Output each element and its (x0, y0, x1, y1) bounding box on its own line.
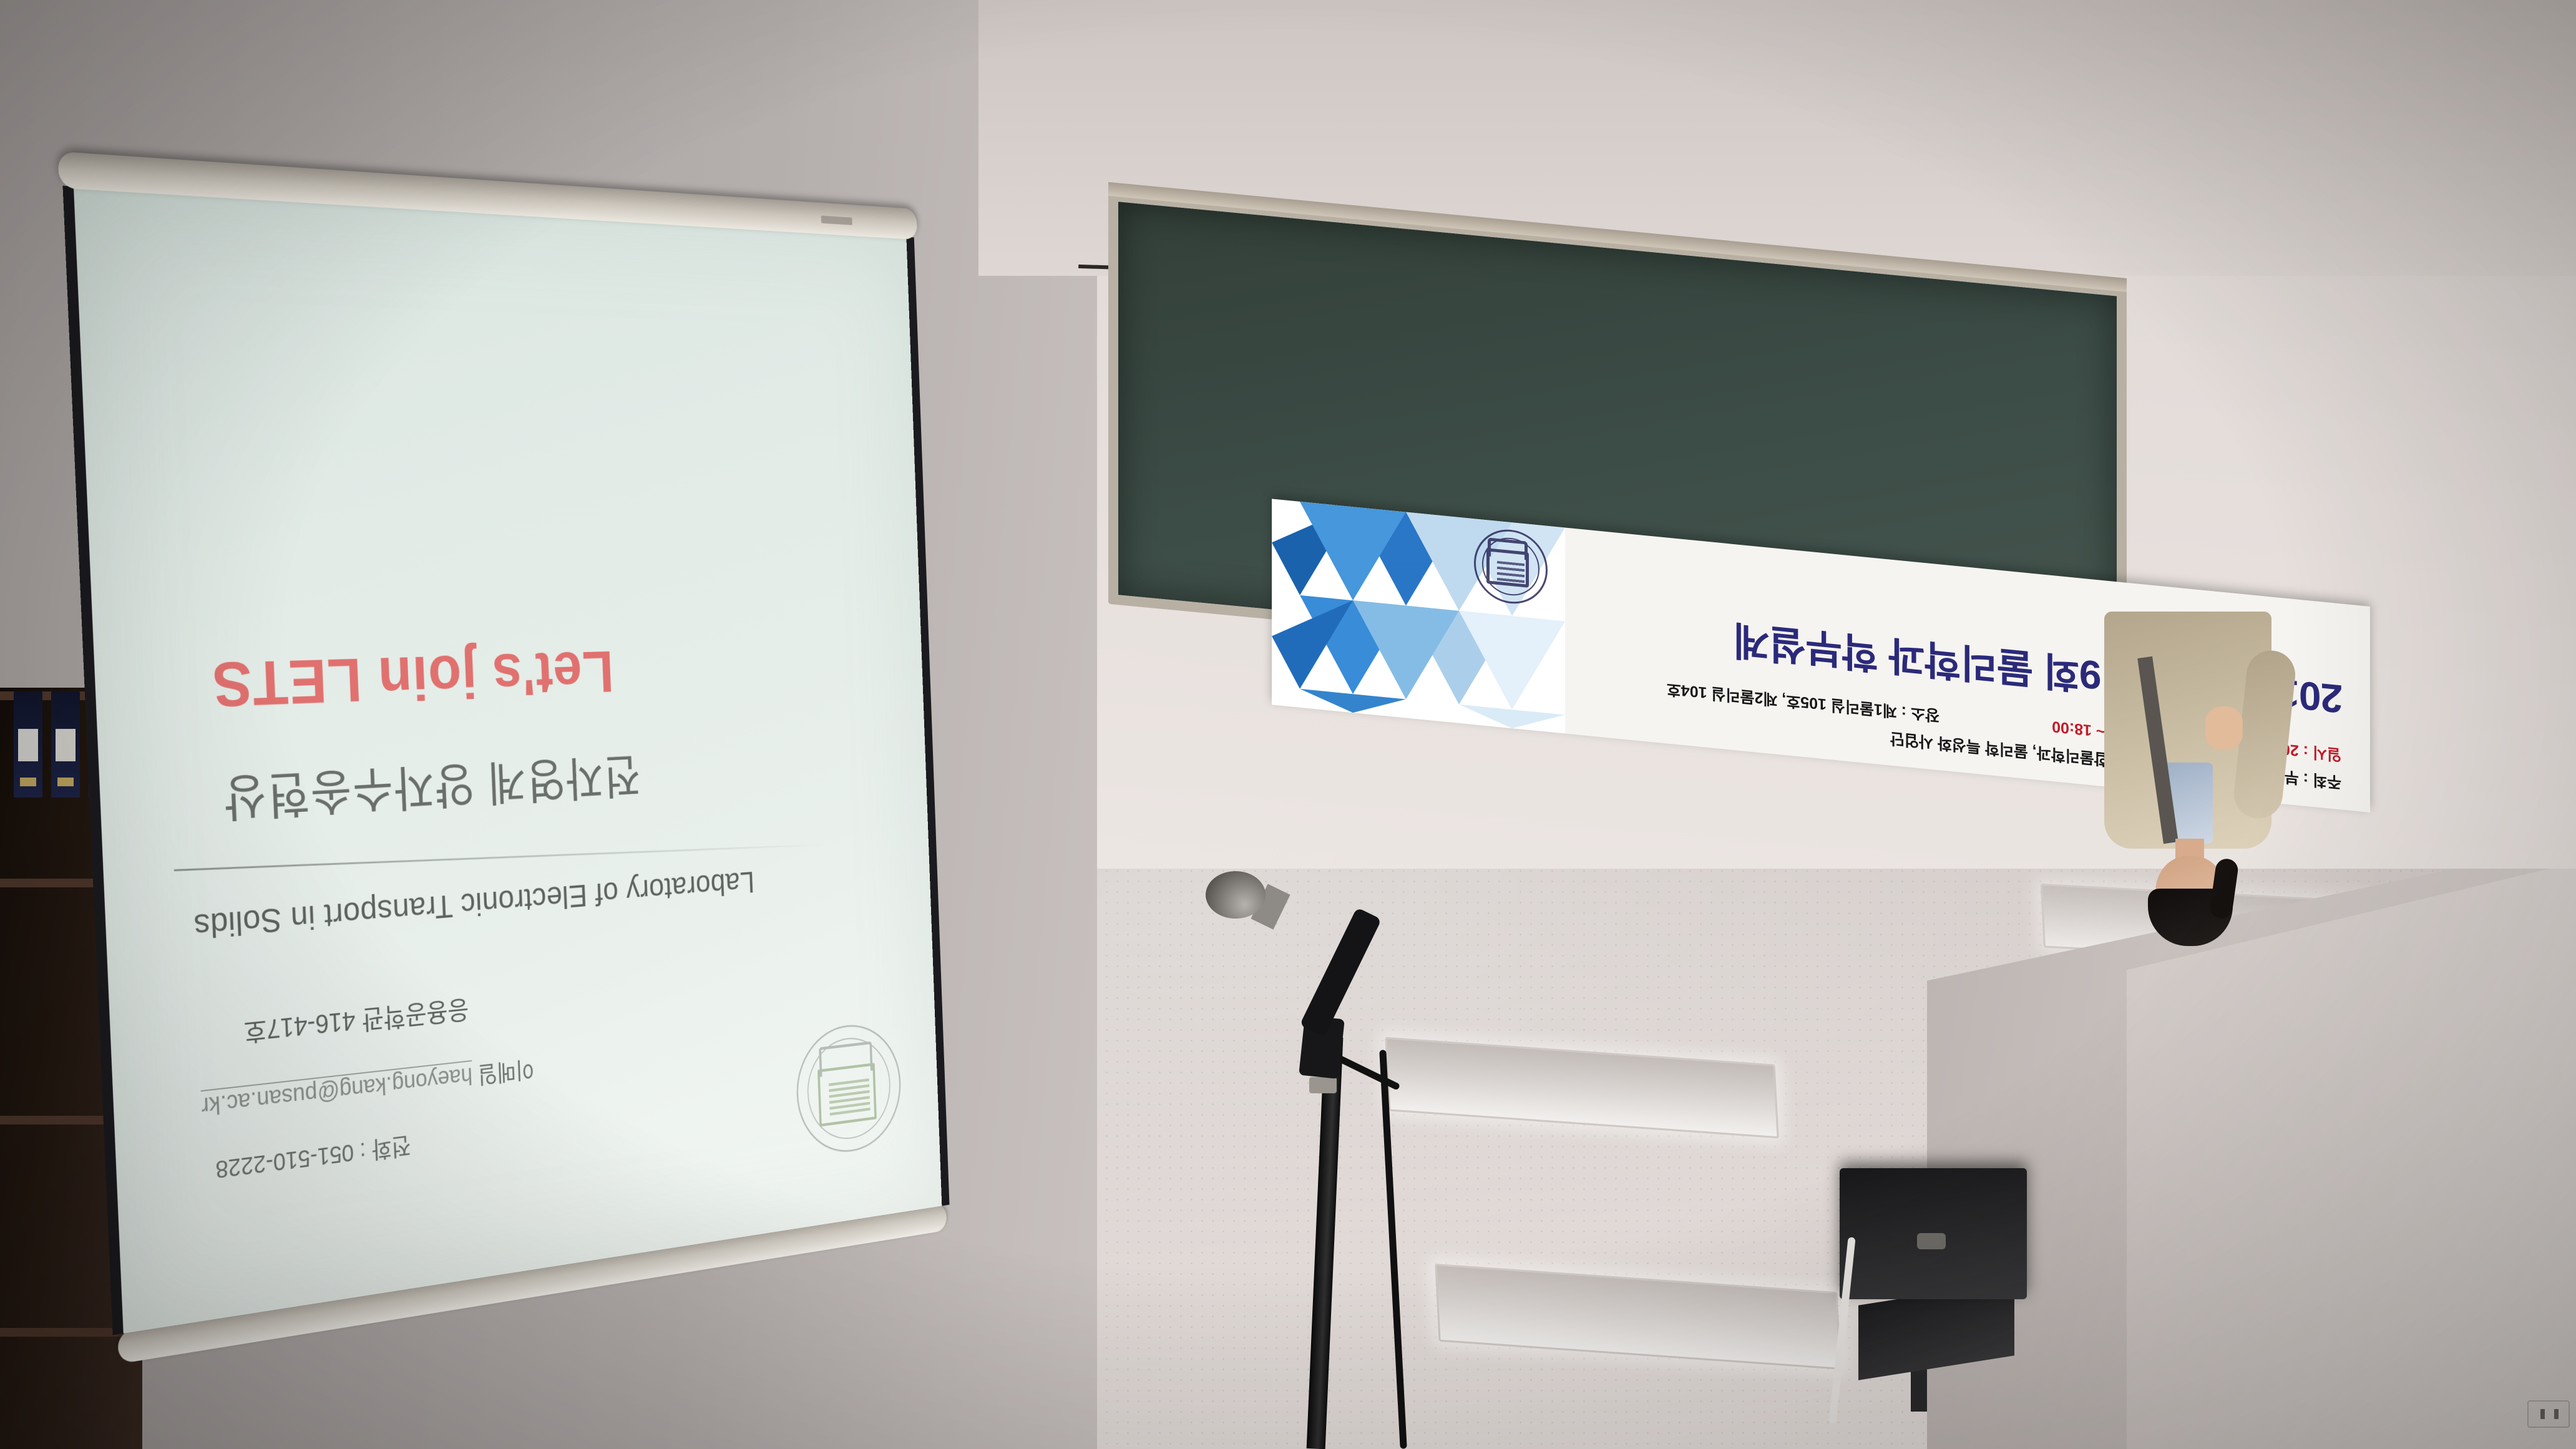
slide-address: 응용공학관 416-417호 (243, 993, 470, 1053)
projection-screen: 전화 : 051-510-2228 이메일 haeyong.kang@pusan… (74, 187, 942, 1334)
screen-brand-mark (821, 216, 852, 225)
slide-telephone: 전화 : 051-510-2228 (215, 1130, 411, 1189)
standing-person (2095, 613, 2283, 937)
photo-canvas: 주최 : 부산대학교 물리학과 · 나노융합물리학과, 물리학 특성화 사업단 … (0, 0, 2576, 1449)
microphone-stand-collar (1309, 1077, 1337, 1093)
slide-email-row: 이메일 haeyong.kang@pusan.ac.kr (201, 1054, 535, 1126)
pusan-university-seal-icon (798, 1023, 903, 1158)
projected-slide: 전화 : 051-510-2228 이메일 haeyong.kang@pusan… (74, 187, 942, 1334)
slide-lab-name: Laboratory of Electronic Transport in So… (193, 864, 755, 947)
projector-lens-icon (1917, 1233, 1946, 1249)
microphone-head-icon (1206, 871, 1266, 919)
slide-korean-title: 전자영계 양자수송현상 (222, 745, 642, 838)
banner-seal-icon (1478, 530, 1548, 607)
wall-power-outlet[interactable] (2527, 1400, 2570, 1428)
slide-headline: Let's join LETS (210, 637, 615, 720)
binder (14, 691, 42, 798)
room-scene: 주최 : 부산대학교 물리학과 · 나노융합물리학과, 물리학 특성화 사업단 … (0, 0, 2576, 1449)
slide-email-address: haeyong.kang@pusan.ac.kr (201, 1060, 473, 1120)
slide-email-label: 이메일 (477, 1056, 535, 1088)
binder (51, 691, 80, 798)
